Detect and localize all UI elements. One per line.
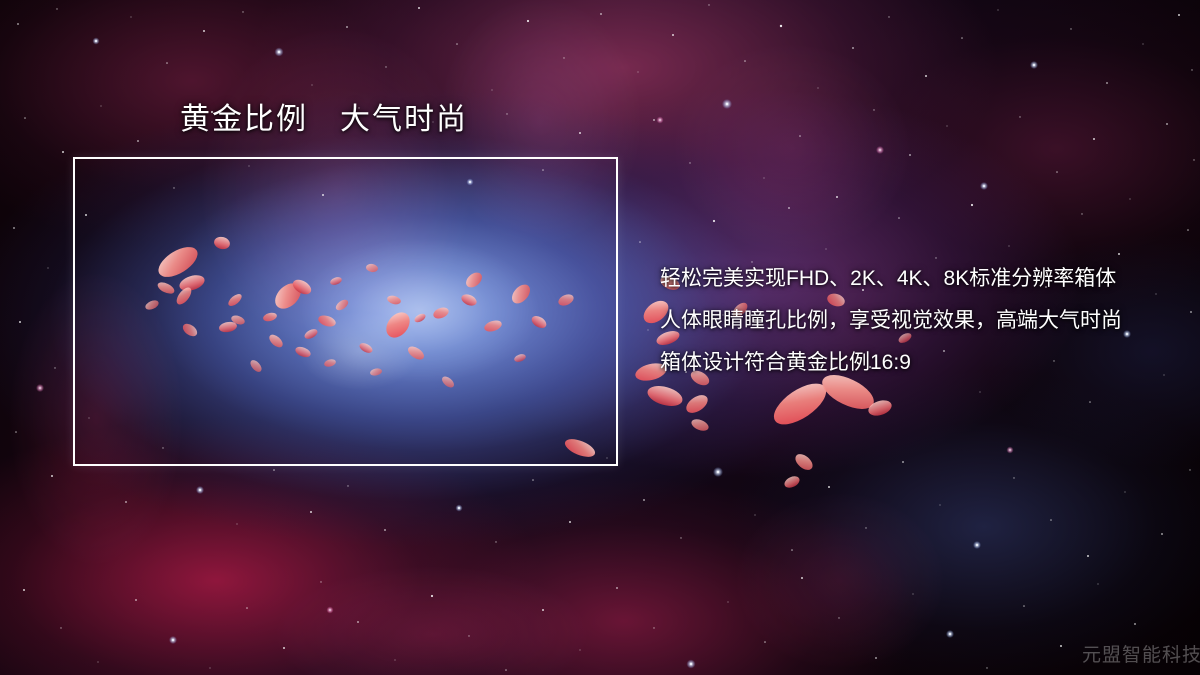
- brand-watermark: 元盟智能科技: [1082, 640, 1200, 667]
- feature-line-3: 箱体设计符合黄金比例16:9: [660, 342, 1122, 384]
- image-frame-border: [73, 157, 618, 466]
- feature-description: 轻松完美实现FHD、2K、4K、8K标准分辨率箱体 人体眼睛瞳孔比例，享受视觉效…: [660, 258, 1122, 384]
- feature-line-2: 人体眼睛瞳孔比例，享受视觉效果，高端大气时尚: [660, 300, 1122, 342]
- feature-line-1: 轻松完美实现FHD、2K、4K、8K标准分辨率箱体: [660, 258, 1122, 300]
- page-title: 黄金比例 大气时尚: [180, 101, 468, 139]
- slide-canvas: 黄金比例 大气时尚 轻松完美实现FHD、2K、4K、8K标准分辨率箱体 人体眼睛…: [0, 0, 1200, 675]
